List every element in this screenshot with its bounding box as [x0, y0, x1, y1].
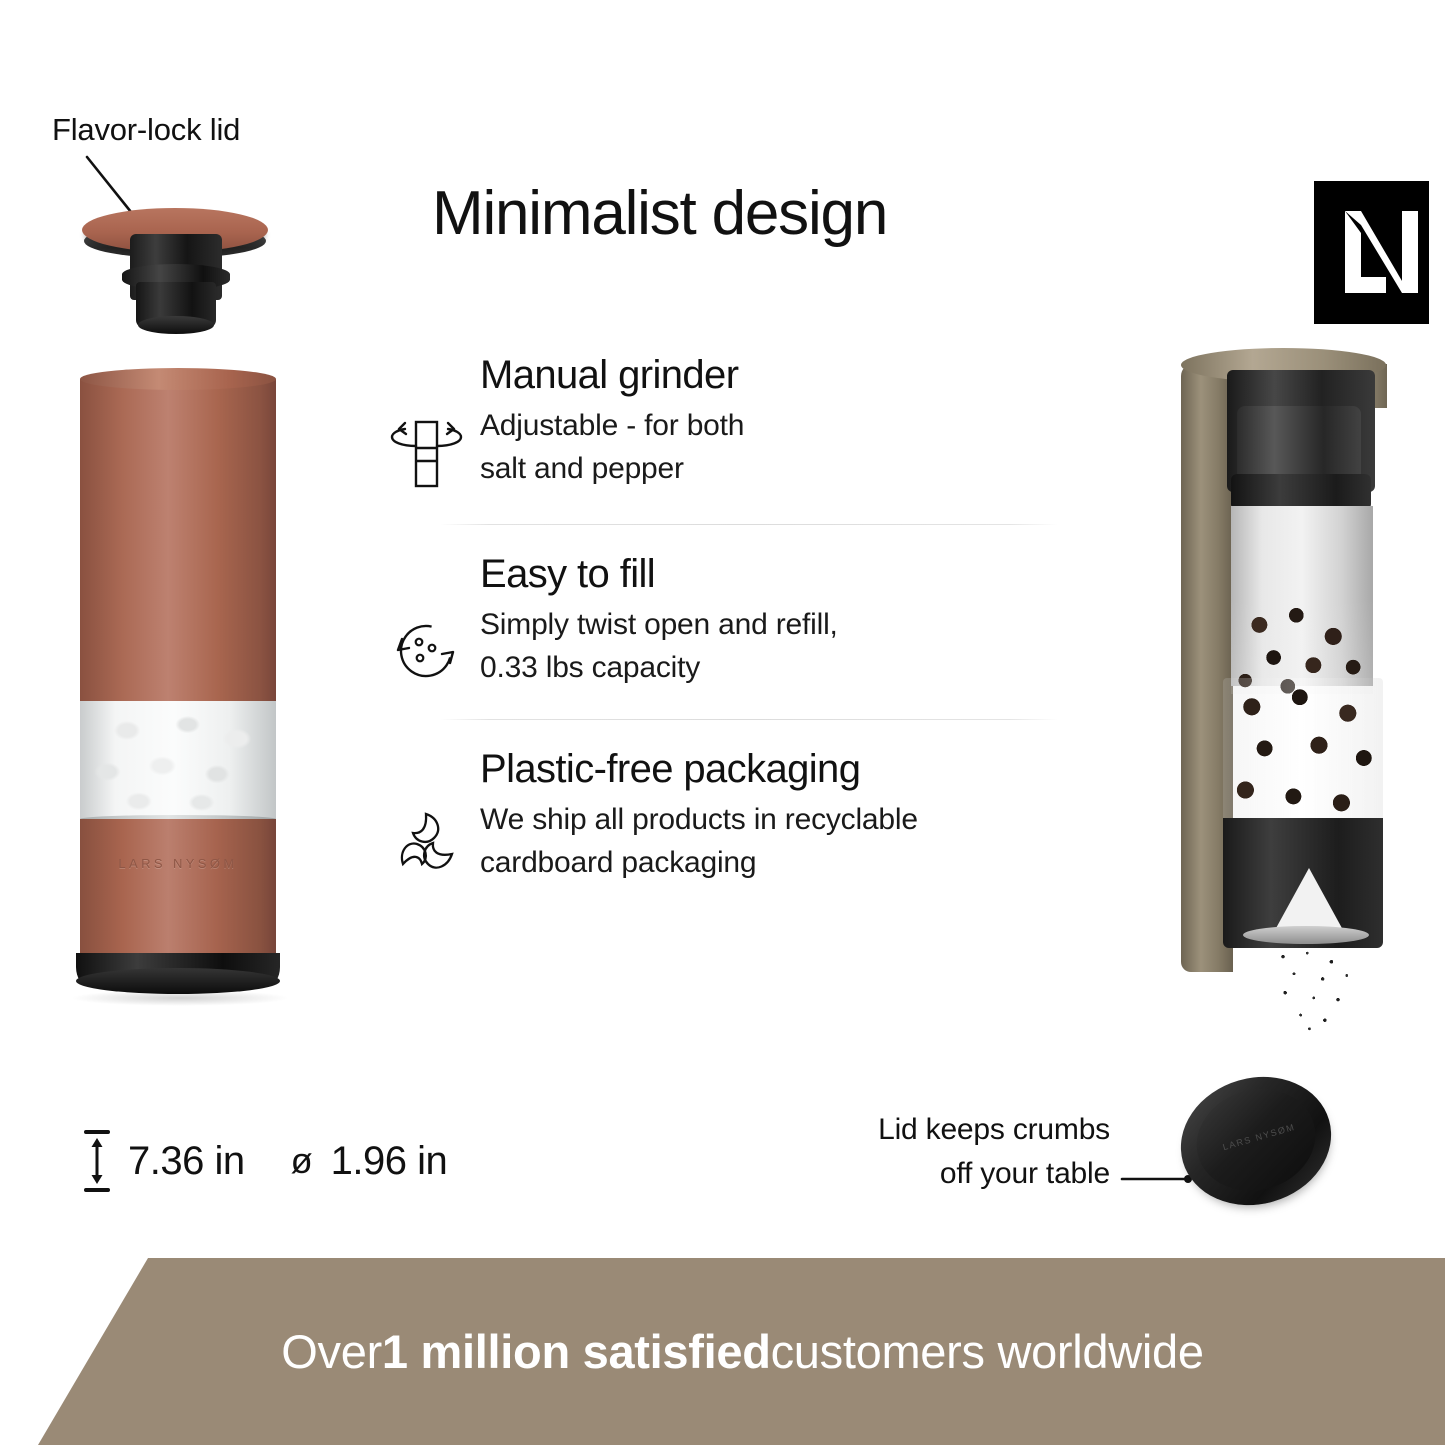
crumb-label-line: off your table: [760, 1152, 1110, 1196]
banner-text: Over 1 million satisfied customers world…: [0, 1258, 1445, 1445]
dimension-diameter: ø 1.96 in: [291, 1139, 448, 1184]
feature-text-block: Plastic-free packaging We ship all produ…: [480, 746, 918, 884]
bottom-banner: Over 1 million satisfied customers world…: [0, 1258, 1445, 1445]
diameter-icon: ø: [291, 1140, 313, 1182]
banner-suffix: customers worldwide: [771, 1324, 1204, 1379]
feature-plastic-free-packaging: Plastic-free packaging We ship all produ…: [372, 746, 1072, 888]
feature-divider: [440, 524, 1058, 525]
diameter-value: 1.96 in: [331, 1139, 448, 1184]
flavor-lock-lid-label: Flavor-lock lid: [52, 112, 240, 148]
ceramic-grinding-cone: [1275, 868, 1343, 930]
infographic-canvas: Flavor-lock lid LARS NYSØM Minimalist de…: [0, 0, 1445, 1445]
body-top-rim: [80, 368, 276, 390]
product-image-pepper-grinder-cutaway: [1165, 348, 1415, 1008]
logo-mark: [1314, 181, 1429, 324]
crumb-label-line: Lid keeps crumbs: [760, 1108, 1110, 1152]
peppercorns-chamber: [1223, 678, 1383, 838]
feature-text-block: Manual grinder Adjustable - for both sal…: [480, 352, 744, 490]
dimension-height: 7.36 in: [82, 1128, 245, 1194]
feature-desc-line: Simply twist open and refill,: [480, 604, 838, 647]
product-image-salt-grinder: LARS NYSØM: [60, 190, 320, 1000]
feature-desc-line: salt and pepper: [480, 448, 744, 491]
feature-desc-line: Adjustable - for both: [480, 405, 744, 448]
feature-manual-grinder: Manual grinder Adjustable - for both sal…: [372, 352, 1072, 498]
recycle-leaves-icon: [372, 746, 480, 888]
lid-plug-tip: [138, 316, 214, 334]
page-title: Minimalist design: [432, 178, 887, 249]
adjustable-grinder-icon: [372, 352, 480, 498]
grinder-body: LARS NYSØM: [80, 368, 276, 988]
height-value: 7.36 in: [128, 1139, 245, 1184]
feature-list: Manual grinder Adjustable - for both sal…: [372, 352, 1072, 888]
product-shadow: [70, 990, 290, 1006]
dimensions-row: 7.36 in ø 1.96 in: [82, 1128, 447, 1194]
feature-text-block: Easy to fill Simply twist open and refil…: [480, 551, 838, 689]
grinder-mechanism-core: [1237, 406, 1361, 484]
salt-viewing-window: [80, 701, 276, 819]
feature-description: Simply twist open and refill, 0.33 lbs c…: [480, 604, 838, 689]
feature-divider: [440, 719, 1058, 720]
feature-desc-line: cardboard packaging: [480, 842, 918, 885]
feature-title: Manual grinder: [480, 354, 744, 397]
body-brand-label: LARS NYSØM: [80, 856, 276, 871]
grinder-mechanism-lower: [1231, 474, 1371, 510]
feature-desc-line: 0.33 lbs capacity: [480, 647, 838, 690]
ln-monogram-logo: [1314, 181, 1429, 324]
feature-description: We ship all products in recyclable cardb…: [480, 799, 918, 884]
refill-twist-icon: [372, 551, 480, 693]
feature-description: Adjustable - for both salt and pepper: [480, 405, 744, 490]
flavor-lock-lid-render: [82, 190, 272, 340]
body-upper-section: [80, 379, 276, 701]
detached-black-lid: LARS NYSØM: [1180, 1078, 1332, 1208]
feature-title: Easy to fill: [480, 553, 838, 596]
feature-easy-to-fill: Easy to fill Simply twist open and refil…: [372, 551, 1072, 693]
height-arrow-icon: [82, 1128, 112, 1194]
lid-crumbs-label: Lid keeps crumbs off your table: [760, 1108, 1110, 1195]
feature-title: Plastic-free packaging: [480, 748, 918, 791]
banner-prefix: Over: [281, 1324, 382, 1379]
feature-desc-line: We ship all products in recyclable: [480, 799, 918, 842]
grinder-base-plate: [1243, 926, 1369, 944]
ground-pepper-falling: [1261, 948, 1371, 1034]
banner-emphasis: 1 million satisfied: [382, 1324, 771, 1379]
body-lower-section: [80, 819, 276, 969]
